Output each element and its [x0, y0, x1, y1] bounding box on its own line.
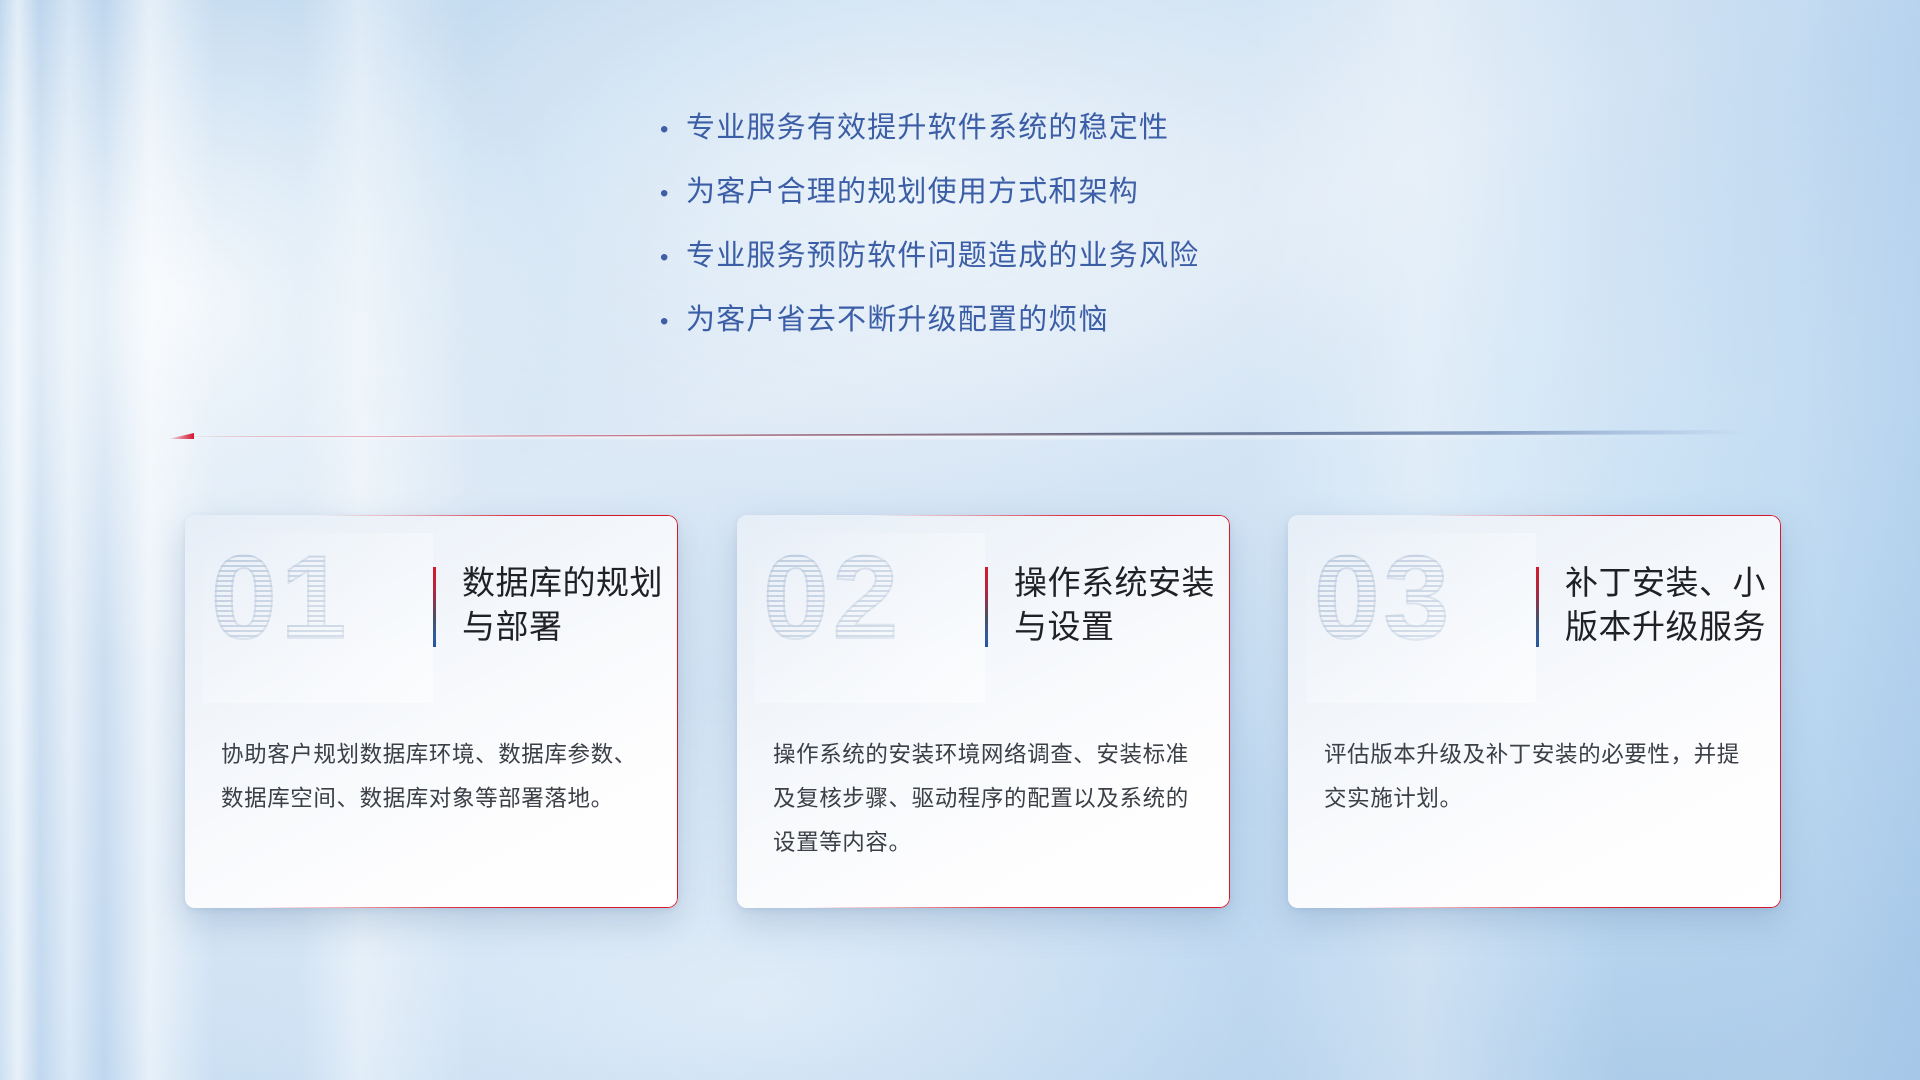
- bullet-dot-icon: •: [660, 310, 686, 334]
- service-card[interactable]: 02 操作系统安装与设置 操作系统的安装环境网络调查、安装标准及复核步骤、驱动程…: [737, 515, 1230, 908]
- bullet-dot-icon: •: [660, 118, 686, 142]
- bullet-dot-icon: •: [660, 182, 686, 206]
- card-title: 操作系统安装与设置: [1014, 561, 1230, 649]
- service-card[interactable]: 03 补丁安装、小版本升级服务 评估版本升级及补丁安装的必要性，并提交实施计划。: [1288, 515, 1781, 908]
- card-number-watermark: 02: [763, 539, 902, 657]
- benefit-item: • 专业服务预防软件问题造成的业务风险: [660, 232, 1420, 296]
- card-title: 数据库的规划与部署: [462, 561, 678, 649]
- bullet-dot-icon: •: [660, 246, 686, 270]
- service-card-row: 01 数据库的规划与部署 协助客户规划数据库环境、数据库参数、数据库空间、数据库…: [0, 515, 1920, 935]
- card-header: 数据库的规划与部署: [433, 561, 678, 649]
- card-description: 评估版本升级及补丁安装的必要性，并提交实施计划。: [1324, 733, 1751, 821]
- card-header: 操作系统安装与设置: [985, 561, 1230, 649]
- benefit-item: • 专业服务有效提升软件系统的稳定性: [660, 104, 1420, 168]
- benefits-list: • 专业服务有效提升软件系统的稳定性 • 为客户合理的规划使用方式和架构 • 专…: [660, 104, 1420, 360]
- section-divider: [180, 424, 1740, 444]
- card-accent-rule: [433, 567, 436, 647]
- card-accent-rule: [1536, 567, 1539, 647]
- card-title: 补丁安装、小版本升级服务: [1565, 561, 1781, 649]
- card-description: 操作系统的安装环境网络调查、安装标准及复核步骤、驱动程序的配置以及系统的设置等内…: [773, 733, 1200, 865]
- benefit-text: 为客户省去不断升级配置的烦恼: [686, 296, 1109, 338]
- slide-canvas: • 专业服务有效提升软件系统的稳定性 • 为客户合理的规划使用方式和架构 • 专…: [0, 0, 1920, 1080]
- benefit-text: 为客户合理的规划使用方式和架构: [686, 168, 1139, 210]
- benefit-text: 专业服务有效提升软件系统的稳定性: [686, 104, 1169, 146]
- card-number-watermark: 03: [1314, 539, 1453, 657]
- benefit-text: 专业服务预防软件问题造成的业务风险: [686, 232, 1199, 274]
- card-description: 协助客户规划数据库环境、数据库参数、数据库空间、数据库对象等部署落地。: [221, 733, 648, 821]
- divider-highlight: [180, 435, 1740, 439]
- service-card[interactable]: 01 数据库的规划与部署 协助客户规划数据库环境、数据库参数、数据库空间、数据库…: [185, 515, 678, 908]
- card-header: 补丁安装、小版本升级服务: [1536, 561, 1781, 649]
- benefit-item: • 为客户省去不断升级配置的烦恼: [660, 296, 1420, 360]
- card-accent-rule: [985, 567, 988, 647]
- card-number-watermark: 01: [211, 539, 350, 657]
- benefit-item: • 为客户合理的规划使用方式和架构: [660, 168, 1420, 232]
